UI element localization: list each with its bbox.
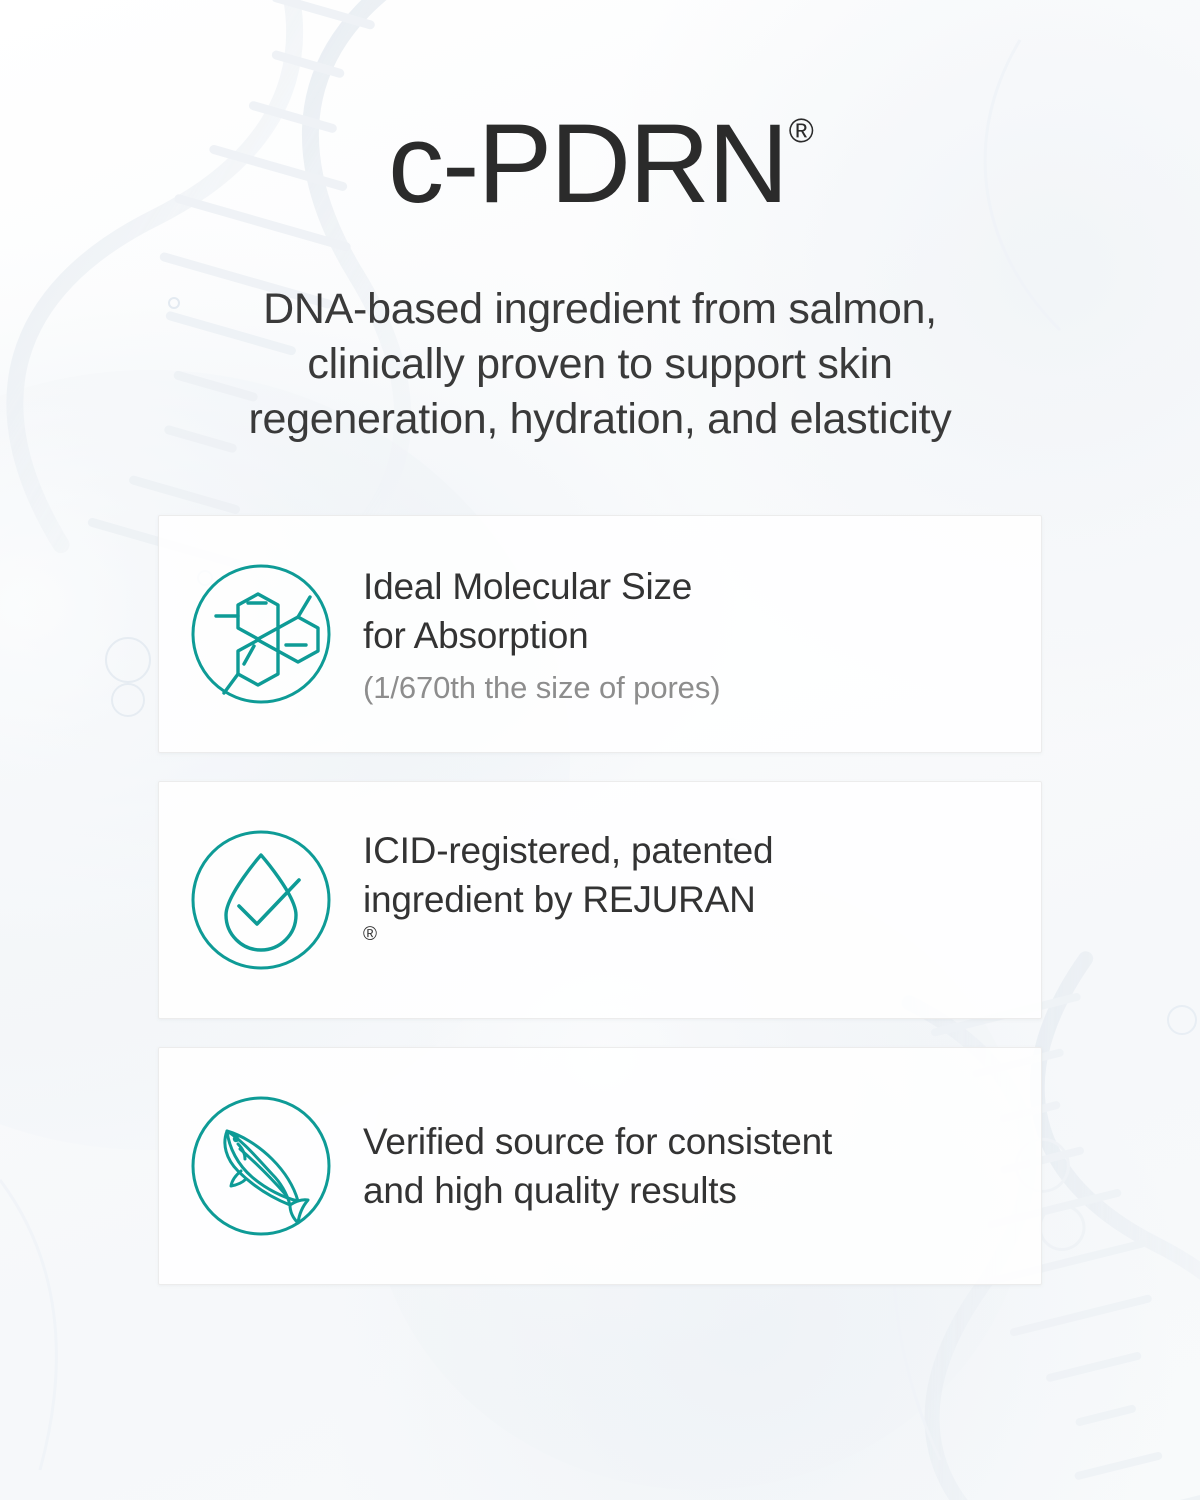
feature-heading-line-1: Verified source for consistent — [363, 1117, 1011, 1166]
subtitle-line-3: regeneration, hydration, and elasticity — [150, 392, 1050, 447]
feature-card-text: ICID-registered, patented ingredient by … — [363, 826, 1041, 974]
header: c-PDRN® DNA-based ingredient from salmon… — [0, 0, 1200, 447]
feature-card-heading: Ideal Molecular Size for Absorption — [363, 562, 1011, 660]
subtitle-line-1: DNA-based ingredient from salmon, — [150, 282, 1050, 337]
feature-card-list: Ideal Molecular Size for Absorption (1/6… — [158, 515, 1042, 1285]
page-title: c-PDRN® — [388, 108, 812, 220]
subtitle: DNA-based ingredient from salmon, clinic… — [150, 282, 1050, 447]
feature-heading-line-2: ingredient by REJURAN® — [363, 875, 1011, 973]
feature-heading-line-1: Ideal Molecular Size — [363, 562, 1011, 611]
feature-heading-line-2: and high quality results — [363, 1166, 1011, 1215]
feature-heading-line-2: for Absorption — [363, 611, 1011, 660]
feature-card-subtext: (1/670th the size of pores) — [363, 670, 1011, 706]
feature-card-text: Ideal Molecular Size for Absorption (1/6… — [363, 562, 1041, 706]
fish-icon — [159, 1091, 363, 1241]
brand-name: c-PDRN — [388, 101, 787, 226]
water-drop-check-icon — [159, 825, 363, 975]
feature-card-molecular-size: Ideal Molecular Size for Absorption (1/6… — [158, 515, 1042, 753]
feature-heading-line-2-text: ingredient by REJURAN — [363, 875, 1011, 924]
feature-card-icid-registered: ICID-registered, patented ingredient by … — [158, 781, 1042, 1019]
feature-card-text: Verified source for consistent and high … — [363, 1117, 1041, 1215]
feature-card-heading: Verified source for consistent and high … — [363, 1117, 1011, 1215]
feature-heading-line-1: ICID-registered, patented — [363, 826, 1011, 875]
feature-card-heading: ICID-registered, patented ingredient by … — [363, 826, 1011, 974]
feature-card-verified-source: Verified source for consistent and high … — [158, 1047, 1042, 1285]
registered-trademark-symbol: ® — [789, 112, 814, 150]
subtitle-line-2: clinically proven to support skin — [150, 337, 1050, 392]
product-ingredient-infographic: c-PDRN® DNA-based ingredient from salmon… — [0, 0, 1200, 1500]
rejuran-registered-symbol: ® — [363, 924, 377, 945]
molecule-icon — [159, 559, 363, 709]
